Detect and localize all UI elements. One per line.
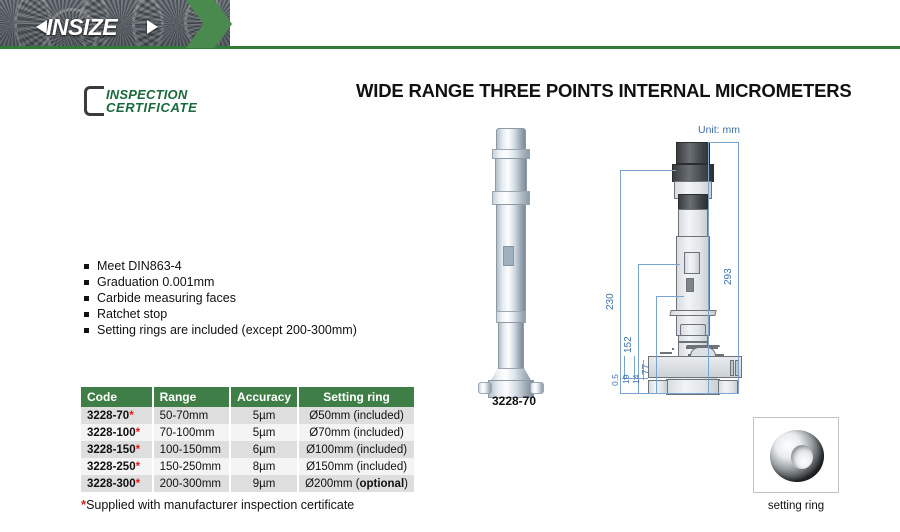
asterisk-marker: * bbox=[136, 478, 140, 490]
cell-range: 50-70mm bbox=[153, 407, 230, 424]
dim-line-77 bbox=[656, 296, 657, 394]
cell-setting-ring: Ø200mm (optional) bbox=[298, 475, 414, 492]
footnote-text: Supplied with manufacturer inspection ce… bbox=[86, 498, 354, 512]
cell-code: 3228-100* bbox=[81, 424, 153, 441]
dim-line-293 bbox=[738, 142, 739, 394]
list-item: Setting rings are included (except 200-3… bbox=[84, 322, 374, 338]
drawing-ratchet bbox=[676, 142, 710, 164]
setting-ring-bore bbox=[791, 445, 813, 469]
specification-table: Code Range Accuracy Setting ring 3228-70… bbox=[81, 387, 414, 492]
dim-extension-right bbox=[708, 142, 709, 394]
asterisk-marker: * bbox=[136, 427, 140, 439]
cell-accuracy: 6µm bbox=[230, 441, 298, 458]
table-row: 3228-250* 150-250mm 8µm Ø150mm (included… bbox=[81, 458, 414, 475]
detail-slot-1 bbox=[730, 360, 734, 376]
column-header-code: Code bbox=[81, 387, 153, 407]
cell-setting-ring: Ø100mm (included) bbox=[298, 441, 414, 458]
table-row: 3228-150* 100-150mm 6µm Ø100mm (included… bbox=[81, 441, 414, 458]
drawing-band bbox=[678, 194, 708, 210]
cell-code: 3228-300* bbox=[81, 475, 153, 492]
column-header-range: Range bbox=[153, 387, 230, 407]
table-footnote: *Supplied with manufacturer inspection c… bbox=[81, 497, 354, 512]
column-header-setting-ring: Setting ring bbox=[298, 387, 414, 407]
certificate-bracket-icon bbox=[84, 86, 104, 116]
asterisk-marker: * bbox=[129, 410, 133, 422]
asterisk-marker: * bbox=[136, 461, 140, 473]
page-title: WIDE RANGE THREE POINTS INTERNAL MICROME… bbox=[356, 80, 876, 102]
cell-range: 200-300mm bbox=[153, 475, 230, 492]
list-item: Carbide measuring faces bbox=[84, 290, 374, 306]
feature-list: Meet DIN863-4 Graduation 0.001mm Carbide… bbox=[84, 258, 374, 338]
cell-accuracy: 5µm bbox=[230, 424, 298, 441]
header-divider-rule bbox=[0, 46, 900, 49]
unit-label: Unit: mm bbox=[698, 124, 740, 136]
table-row: 3228-300* 200-300mm 9µm Ø200mm (optional… bbox=[81, 475, 414, 492]
technical-drawing: Unit: mm 230 152 77 293 0.5 19 14 bbox=[612, 124, 882, 394]
product-photo-caption: 3228-70 bbox=[462, 394, 566, 408]
drawing-head-pad-right bbox=[718, 380, 738, 394]
cell-range: 150-250mm bbox=[153, 458, 230, 475]
cell-range: 100-150mm bbox=[153, 441, 230, 458]
cell-range: 70-100mm bbox=[153, 424, 230, 441]
dim-label-293: 293 bbox=[723, 268, 734, 285]
inspection-certificate-logo: INSPECTION CERTIFICATE bbox=[84, 86, 234, 120]
drawing-taper bbox=[669, 310, 716, 316]
list-item: Meet DIN863-4 bbox=[84, 258, 374, 274]
dim-label-14: 14 bbox=[631, 375, 641, 384]
drawing-neck bbox=[678, 209, 708, 237]
drawing-head-pad-left bbox=[648, 380, 668, 394]
drawing-window-detail bbox=[686, 278, 694, 292]
detail-base-block bbox=[648, 356, 742, 378]
dim-label-0-5: 0.5 bbox=[610, 374, 620, 386]
arrow-right-icon bbox=[147, 20, 158, 34]
insize-brand-logo: INSIZE bbox=[46, 14, 117, 41]
asterisk-marker: * bbox=[136, 444, 140, 456]
cell-accuracy: 8µm bbox=[230, 458, 298, 475]
table-row: 3228-70* 50-70mm 5µm Ø50mm (included) bbox=[81, 407, 414, 424]
cell-setting-ring: Ø50mm (included) bbox=[298, 407, 414, 424]
page-header: INSIZE bbox=[0, 0, 900, 48]
setting-ring-image-box bbox=[753, 417, 839, 493]
list-item: Ratchet stop bbox=[84, 306, 374, 322]
setting-ring-outer bbox=[770, 430, 824, 482]
dim-line-230 bbox=[620, 170, 621, 394]
setting-ring-caption: setting ring bbox=[746, 500, 846, 512]
cell-code: 3228-70* bbox=[81, 407, 153, 424]
cell-accuracy: 9µm bbox=[230, 475, 298, 492]
certificate-text: INSPECTION CERTIFICATE bbox=[106, 88, 197, 114]
column-header-accuracy: Accuracy bbox=[230, 387, 298, 407]
dim-label-19: 19 bbox=[621, 375, 631, 384]
dim-label-152: 152 bbox=[623, 336, 634, 353]
cell-accuracy: 5µm bbox=[230, 407, 298, 424]
list-item: Graduation 0.001mm bbox=[84, 274, 374, 290]
product-photograph bbox=[466, 128, 562, 388]
dim-label-230: 230 bbox=[605, 293, 616, 310]
drawing-display-window bbox=[684, 252, 700, 274]
cell-setting-ring: Ø150mm (included) bbox=[298, 458, 414, 475]
table-row: 3228-100* 70-100mm 5µm Ø70mm (included) bbox=[81, 424, 414, 441]
table-header-row: Code Range Accuracy Setting ring bbox=[81, 387, 414, 407]
certificate-line-2: CERTIFICATE bbox=[106, 101, 197, 114]
cell-code: 3228-250* bbox=[81, 458, 153, 475]
cell-setting-ring: Ø70mm (included) bbox=[298, 424, 414, 441]
cell-code: 3228-150* bbox=[81, 441, 153, 458]
